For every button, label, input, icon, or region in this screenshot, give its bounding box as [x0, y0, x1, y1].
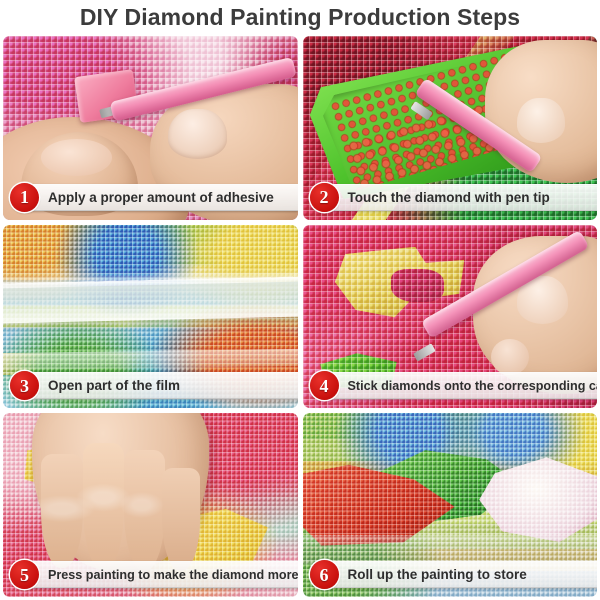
step-photo-3 — [3, 225, 298, 409]
title-bar: DIY Diamond Painting Production Steps — [0, 0, 600, 34]
thumb-nail — [41, 139, 112, 176]
instructional-infographic: DIY Diamond Painting Production Steps 1 — [0, 0, 600, 600]
step-panel-4: 4 Stick diamonds onto the corresponding … — [303, 225, 598, 409]
steps-grid: 1 Apply a proper amount of adhesive — [0, 34, 600, 600]
finger-nail — [517, 98, 564, 142]
finger-nail — [168, 109, 227, 159]
page-title: DIY Diamond Painting Production Steps — [80, 4, 520, 31]
step-photo-2 — [303, 36, 598, 220]
step-panel-3: 3 Open part of the film — [3, 225, 298, 409]
step-panel-5: 5 Press painting to make the diamond mor… — [3, 413, 298, 597]
step-photo-6 — [303, 413, 598, 597]
step-photo-4 — [303, 225, 598, 409]
knuckle-highlights — [3, 413, 298, 597]
step-panel-2: 2 Touch the diamond with pen tip — [303, 36, 598, 220]
bead-grid-lines — [303, 413, 598, 597]
step-panel-1: 1 Apply a proper amount of adhesive — [3, 36, 298, 220]
step-photo-1 — [3, 36, 298, 220]
step-panel-6: 6 Roll up the painting to store — [303, 413, 598, 597]
step-photo-5 — [3, 413, 298, 597]
